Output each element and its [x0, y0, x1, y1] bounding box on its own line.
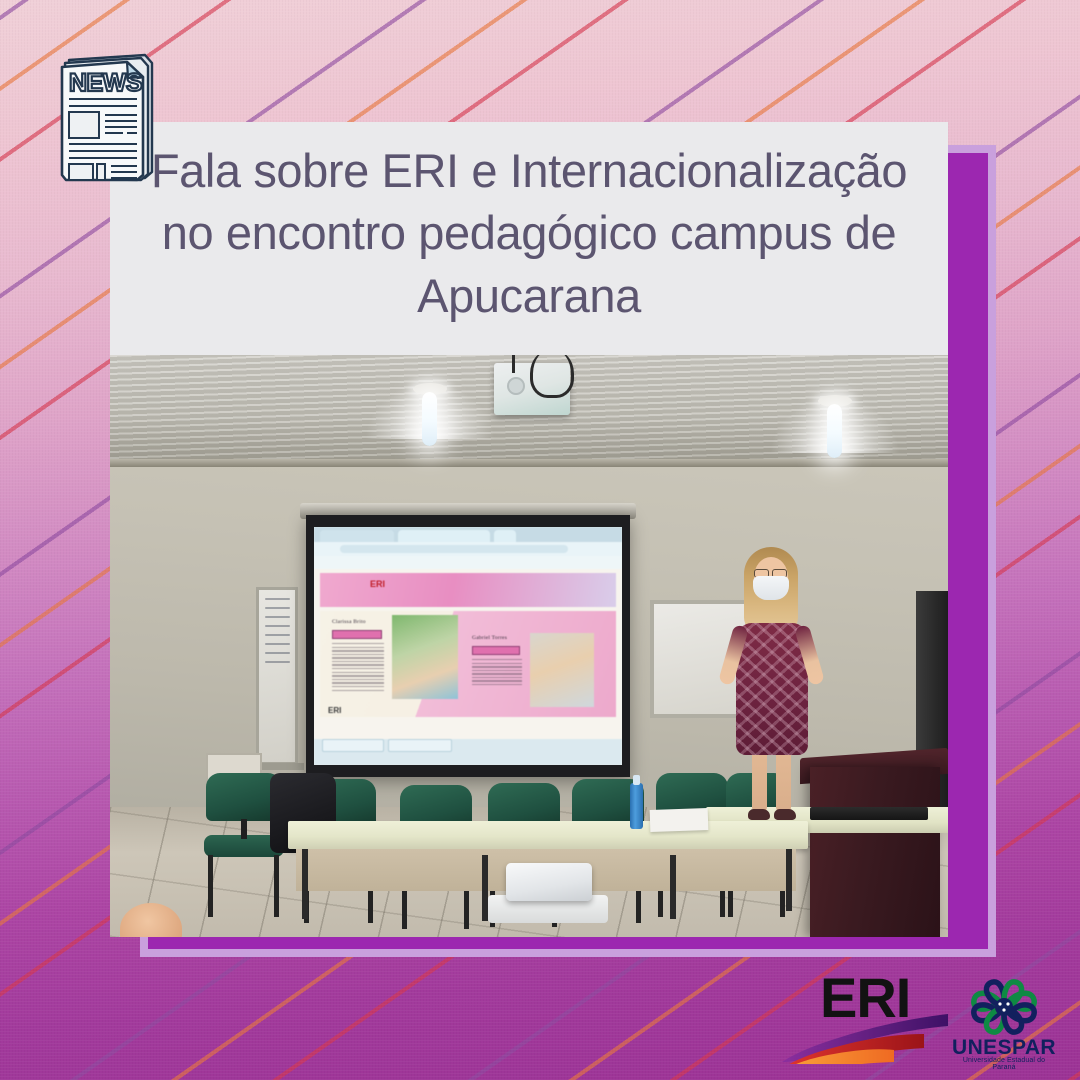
presenter-shoe-right [774, 809, 796, 820]
slide-footer-logo: ERI [328, 706, 341, 715]
projection-screen-surface: ERI Clarissa Brito Gabriel Torres [314, 527, 622, 765]
projected-slide: ERI Clarissa Brito Gabriel Torres [314, 569, 622, 739]
taskbar-item [322, 739, 384, 752]
lamp-tube [422, 392, 437, 446]
slide-body: Clarissa Brito Gabriel Torres [320, 611, 616, 717]
table-leg [302, 849, 308, 919]
browser-address-row [314, 542, 622, 556]
presenter-leg-right [776, 749, 791, 813]
browser-tab [320, 530, 394, 542]
unespar-emblem [952, 978, 1056, 1036]
table-leg [786, 849, 792, 911]
browser-address-bar [340, 545, 568, 553]
browser-tab-strip [314, 527, 622, 542]
slide-person-right-photo [530, 633, 594, 707]
projector-cable [512, 355, 515, 373]
ceiling-lamp-left [413, 383, 447, 453]
table-leg [670, 855, 676, 919]
table-front [288, 821, 808, 849]
presenter-shoe-left [748, 809, 770, 820]
presenter-face-mask [753, 576, 789, 600]
taskbar-item [388, 739, 452, 752]
projected-browser: ERI Clarissa Brito Gabriel Torres [314, 527, 622, 765]
news-icon-label: NEWS [69, 69, 142, 97]
eri-logo: ERI [776, 968, 948, 1064]
projector-cable-loop [530, 355, 574, 398]
poster-canvas: Fala sobre ERI e Internacionalização no … [0, 0, 1080, 1080]
slide-person-left-name: Clarissa Brito [332, 619, 366, 625]
presenter-dress [736, 623, 808, 755]
page-title: Fala sobre ERI e Internacionalização no … [124, 140, 934, 328]
slide-person-left-text [332, 643, 384, 693]
slide-header-banner: ERI [320, 573, 616, 607]
chair-legs [206, 855, 282, 917]
slide-eri-logo: ERI [370, 579, 385, 589]
eri-wordmark: ERI [820, 970, 910, 1026]
presenter-leg-left [752, 749, 767, 813]
slide-person-right-tag [472, 646, 520, 655]
unespar-emblem-center [995, 998, 1013, 1016]
chair-post [241, 819, 247, 839]
browser-tab-active [398, 530, 490, 542]
news-icon: NEWS [53, 46, 157, 182]
slide-person-left-tag [332, 630, 382, 639]
presenter-glasses [754, 569, 788, 576]
projection-screen: ERI Clarissa Brito Gabriel Torres [306, 515, 630, 777]
slide-person-left-photo [392, 615, 458, 699]
lamp-tube [827, 404, 842, 458]
floor-projector [506, 863, 592, 901]
projector-lens [507, 377, 525, 395]
whiteboard-left [256, 587, 298, 765]
slide-person-right-name: Gabriel Torres [472, 635, 507, 641]
wooden-podium [810, 767, 940, 937]
hand-sanitizer-bottle [630, 783, 643, 829]
title-card: Fala sobre ERI e Internacionalização no … [110, 122, 948, 355]
whiteboard-writing [265, 598, 290, 670]
pdf-viewer-toolbar [314, 556, 622, 569]
ceiling-lamp-right [818, 395, 852, 465]
browser-tab-new [494, 530, 516, 542]
slide-person-right-text [472, 659, 522, 688]
unespar-subtitle: Universidade Estadual do Paraná [952, 1057, 1056, 1071]
papers-on-table [650, 808, 709, 832]
unespar-logo: UNESPAR Universidade Estadual do Paraná [952, 978, 1056, 1072]
keyboard [810, 807, 928, 820]
windows-taskbar [314, 739, 622, 765]
event-photo: ERI Clarissa Brito Gabriel Torres [110, 355, 948, 937]
